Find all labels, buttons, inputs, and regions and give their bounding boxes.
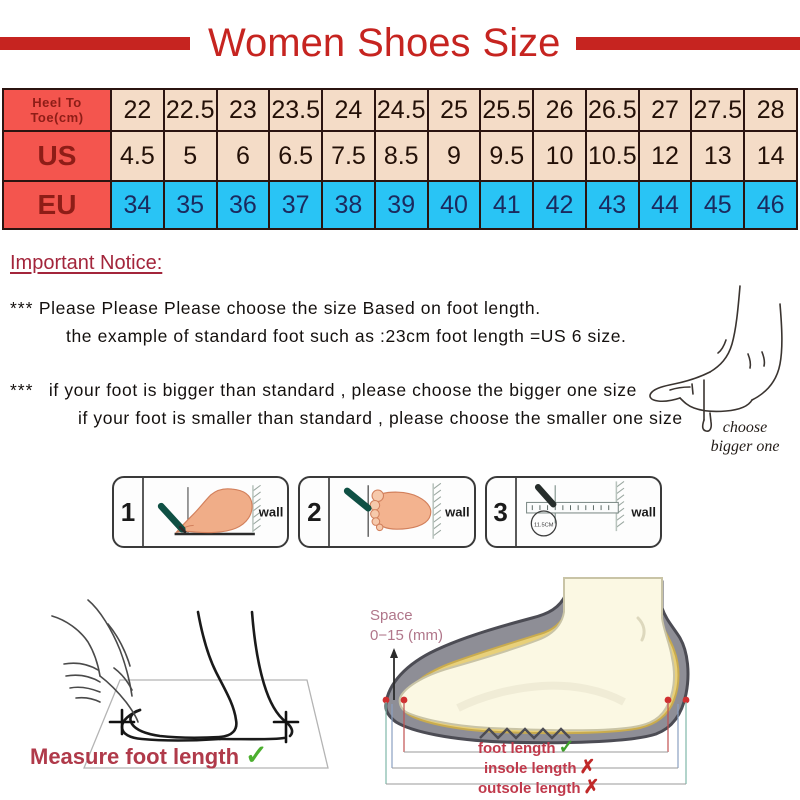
cell-us-2: 6 (217, 131, 270, 181)
step-2-number: 2 (300, 478, 330, 546)
cell-cm-7: 25.5 (480, 89, 533, 131)
outsole-length-label: outsole length (478, 780, 581, 797)
title-word-women: Women (202, 21, 351, 65)
cell-eu-4: 38 (322, 181, 375, 229)
page-title-banner: WomenShoesSize (0, 18, 800, 68)
cell-cm-0: 22 (111, 89, 164, 131)
cell-us-9: 10.5 (586, 131, 639, 181)
cell-us-11: 13 (691, 131, 744, 181)
row-label-us: US (3, 131, 111, 181)
insole-length-cross-icon: ✗ (577, 757, 596, 778)
ruler-badge-text: 11.5CM (534, 522, 554, 528)
notice-2-stars: *** (10, 380, 33, 400)
space-label-line-1: Space (370, 606, 443, 626)
cell-us-1: 5 (164, 131, 217, 181)
outsole-length-cross-icon: ✗ (581, 777, 600, 798)
outsole-length-annotation: outsole length✗ (478, 778, 738, 798)
notice-1-text-1: Please Please Please choose the size Bas… (39, 298, 541, 318)
foot-length-label: foot length (478, 740, 555, 757)
cell-eu-3: 37 (269, 181, 322, 229)
notice-1-line-2: the example of standard foot such as :23… (10, 322, 670, 350)
cell-cm-6: 25 (428, 89, 481, 131)
table-row-eu: EU 34 35 36 37 38 39 40 41 42 43 44 45 4… (3, 181, 797, 229)
notice-1-stars: *** (10, 298, 33, 318)
cell-cm-9: 26.5 (586, 89, 639, 131)
step-2: 2 (298, 476, 475, 548)
cell-us-0: 4.5 (111, 131, 164, 181)
cell-cm-5: 24.5 (375, 89, 428, 131)
insole-length-annotation: insole length✗ (478, 758, 738, 778)
size-chart-page: WomenShoesSize Heel To Toe(cm) 22 22.5 2… (0, 0, 800, 800)
foot-length-annotation: foot length✓ (478, 738, 738, 758)
step-1: 1 wal (112, 476, 289, 548)
cell-eu-0: 34 (111, 181, 164, 229)
foot-length-check-icon: ✓ (555, 737, 574, 758)
cell-eu-8: 42 (533, 181, 586, 229)
step-3-art: 11.5CM wall (517, 478, 660, 546)
notice-1-line-1: *** Please Please Please choose the size… (10, 294, 670, 322)
title-word-size: Size (477, 21, 567, 65)
measure-caption-text: Measure foot length (30, 744, 239, 769)
cell-eu-7: 41 (480, 181, 533, 229)
cell-eu-11: 45 (691, 181, 744, 229)
cell-eu-6: 40 (428, 181, 481, 229)
row-label-eu: EU (3, 181, 111, 229)
measure-foot-length-caption: Measure foot length✓ (30, 740, 330, 771)
notice-block-2: *** if your foot is bigger than standard… (10, 376, 670, 432)
cell-cm-1: 22.5 (164, 89, 217, 131)
length-annotations: foot length✓ insole length✗ outsole leng… (478, 738, 738, 798)
step-2-wall-label: wall (445, 505, 470, 520)
cell-eu-10: 44 (639, 181, 692, 229)
cell-us-6: 9 (428, 131, 481, 181)
important-notice-heading: Important Notice: (10, 252, 162, 275)
cell-cm-12: 28 (744, 89, 797, 131)
notice-2-text-1: if your foot is bigger than standard , p… (39, 380, 637, 400)
table-row-heel-to-toe: Heel To Toe(cm) 22 22.5 23 23.5 24 24.5 … (3, 89, 797, 131)
cell-us-10: 12 (639, 131, 692, 181)
step-1-wall-label: wall (259, 505, 284, 520)
step-1-art: wall (144, 478, 287, 546)
cell-cm-2: 23 (217, 89, 270, 131)
cell-eu-5: 39 (375, 181, 428, 229)
cell-cm-8: 26 (533, 89, 586, 131)
row-label-heel-to-toe: Heel To Toe(cm) (3, 89, 111, 131)
size-conversion-table: Heel To Toe(cm) 22 22.5 23 23.5 24 24.5 … (2, 88, 798, 230)
step-2-art: wall (330, 478, 473, 546)
title-word-shoes: Shoes (351, 21, 476, 65)
notice-block-1: *** Please Please Please choose the size… (10, 294, 670, 350)
notice-2-line-2: if your foot is smaller than standard , … (10, 404, 670, 432)
step-3-number: 3 (487, 478, 517, 546)
title-bar-right (576, 37, 800, 50)
space-annotation: Space 0−15 (mm) (370, 606, 443, 646)
step-1-number: 1 (114, 478, 144, 546)
cell-eu-2: 36 (217, 181, 270, 229)
choose-line-2: bigger one (690, 437, 800, 456)
table-row-us: US 4.5 5 6 6.5 7.5 8.5 9 9.5 10 10.5 12 … (3, 131, 797, 181)
cell-cm-11: 27.5 (691, 89, 744, 131)
space-label-line-2: 0−15 (mm) (370, 626, 443, 646)
cell-cm-3: 23.5 (269, 89, 322, 131)
cell-us-5: 8.5 (375, 131, 428, 181)
measurement-steps: 1 wal (112, 476, 662, 548)
page-title: WomenShoesSize (190, 21, 576, 65)
choose-line-1: choose (690, 418, 800, 437)
cell-cm-10: 27 (639, 89, 692, 131)
cell-eu-12: 46 (744, 181, 797, 229)
measure-check-icon: ✓ (239, 740, 268, 770)
notice-2-line-1: *** if your foot is bigger than standard… (10, 376, 670, 404)
cell-eu-9: 43 (586, 181, 639, 229)
cell-us-4: 7.5 (322, 131, 375, 181)
cell-us-8: 10 (533, 131, 586, 181)
title-bar-left (0, 37, 190, 50)
step-3-wall-label: wall (631, 505, 656, 520)
step-3: 3 (485, 476, 662, 548)
cell-cm-4: 24 (322, 89, 375, 131)
cell-us-12: 14 (744, 131, 797, 181)
cell-us-7: 9.5 (480, 131, 533, 181)
choose-bigger-one-caption: choose bigger one (690, 418, 800, 456)
insole-length-label: insole length (484, 760, 577, 777)
cell-eu-1: 35 (164, 181, 217, 229)
cell-us-3: 6.5 (269, 131, 322, 181)
